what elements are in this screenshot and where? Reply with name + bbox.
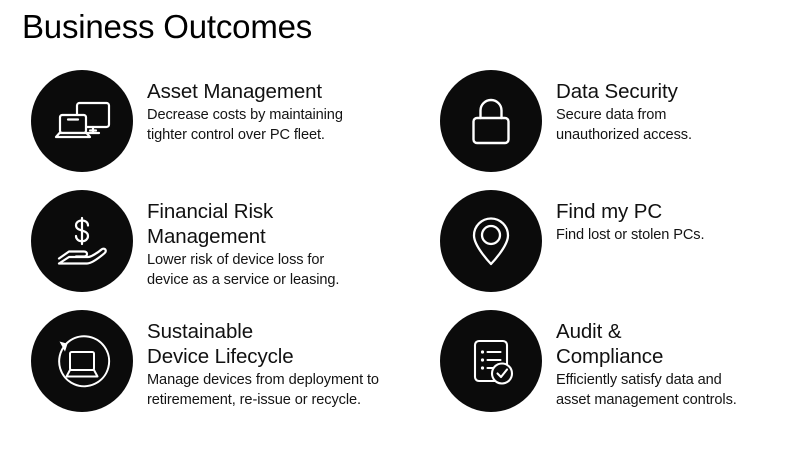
page-title: Business Outcomes (22, 8, 312, 46)
outcome-title: Financial Risk Management (147, 199, 437, 249)
outcome-description: Lower risk of device loss for device as … (147, 251, 437, 290)
outcome-text-block: Asset Management Decrease costs by maint… (147, 70, 437, 145)
outcome-description: Secure data from unauthorized access. (556, 106, 800, 145)
hand-dollar-icon (31, 190, 133, 292)
outcome-text-block: Sustainable Device Lifecycle Manage devi… (147, 310, 437, 410)
outcome-item-sustainable-device-lifecycle[interactable]: Sustainable Device Lifecycle Manage devi… (31, 310, 437, 412)
outcomes-grid: Asset Management Decrease costs by maint… (0, 62, 800, 450)
outcome-title: Find my PC (556, 199, 800, 224)
outcome-title: Data Security (556, 79, 800, 104)
outcome-description: Find lost or stolen PCs. (556, 226, 800, 246)
document-check-icon (440, 310, 542, 412)
outcome-item-asset-management[interactable]: Asset Management Decrease costs by maint… (31, 70, 437, 172)
padlock-icon (440, 70, 542, 172)
outcome-item-audit-compliance[interactable]: Audit & Compliance Efficiently satisfy d… (440, 310, 800, 412)
outcome-item-find-my-pc[interactable]: Find my PC Find lost or stolen PCs. (440, 190, 800, 292)
outcome-description: Decrease costs by maintaining tighter co… (147, 106, 437, 145)
outcome-description: Efficiently satisfy data and asset manag… (556, 371, 800, 410)
outcome-title: Audit & Compliance (556, 319, 800, 369)
outcome-text-block: Audit & Compliance Efficiently satisfy d… (556, 310, 800, 410)
laptop-recycle-icon (31, 310, 133, 412)
outcome-title: Asset Management (147, 79, 437, 104)
map-pin-icon (440, 190, 542, 292)
outcome-text-block: Data Security Secure data from unauthori… (556, 70, 800, 145)
slide-canvas: Business Outcomes Asset Management Decre… (0, 0, 800, 450)
outcome-item-financial-risk-management[interactable]: Financial Risk Management Lower risk of … (31, 190, 437, 292)
devices-icon (31, 70, 133, 172)
outcome-text-block: Financial Risk Management Lower risk of … (147, 190, 437, 290)
outcome-item-data-security[interactable]: Data Security Secure data from unauthori… (440, 70, 800, 172)
outcome-title: Sustainable Device Lifecycle (147, 319, 437, 369)
outcome-description: Manage devices from deployment to retire… (147, 371, 437, 410)
outcome-text-block: Find my PC Find lost or stolen PCs. (556, 190, 800, 246)
